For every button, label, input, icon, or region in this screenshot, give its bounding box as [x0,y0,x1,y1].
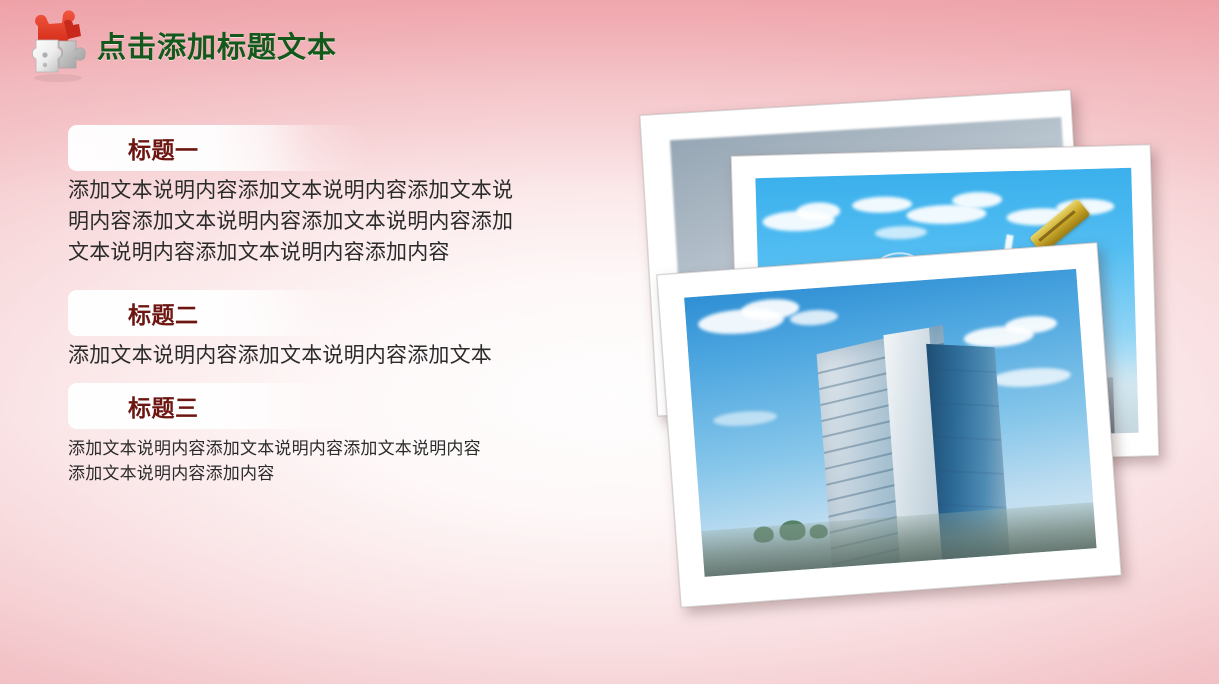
heading-band-3: 标题三 [68,383,368,429]
section-body-3: 添加文本说明内容添加文本说明内容添加文本说明内容 添加文本说明内容添加内容 [68,437,538,487]
photo-front-image [684,269,1096,577]
body-line: 添加文本说明内容添加文本说明内容添加文本说明内容 [68,437,538,462]
heading-band-2: 标题二 [68,290,368,336]
section-heading-2: 标题二 [128,296,199,330]
section-body-2: 添加文本说明内容添加文本说明内容添加文本 [68,340,588,371]
body-line: 添加文本说明内容添加内容 [68,462,538,487]
section-heading-1: 标题一 [128,131,199,165]
slide-canvas: 点击添加标题文本 标题一 添加文本说明内容添加文本说明内容添加文本说 明内容添加… [0,0,1219,684]
content-section-1: 标题一 添加文本说明内容添加文本说明内容添加文本说 明内容添加文本说明内容添加文… [0,125,600,268]
body-line: 添加文本说明内容添加文本说明内容添加文本说 [68,175,588,206]
content-section-3: 标题三 添加文本说明内容添加文本说明内容添加文本说明内容 添加文本说明内容添加内… [0,383,600,487]
photo-stack [630,80,1219,600]
content-section-2: 标题二 添加文本说明内容添加文本说明内容添加文本 [0,290,600,371]
body-line: 文本说明内容添加文本说明内容添加内容 [68,237,588,268]
body-line: 明内容添加文本说明内容添加文本说明内容添加 [68,206,588,237]
heading-band-1: 标题一 [68,125,368,171]
section-body-1: 添加文本说明内容添加文本说明内容添加文本说 明内容添加文本说明内容添加文本说明内… [68,175,588,268]
photo-front [656,242,1121,607]
section-heading-3: 标题三 [128,389,199,423]
body-line: 添加文本说明内容添加文本说明内容添加文本 [68,340,588,371]
content-column: 标题一 添加文本说明内容添加文本说明内容添加文本说 明内容添加文本说明内容添加文… [0,0,620,684]
